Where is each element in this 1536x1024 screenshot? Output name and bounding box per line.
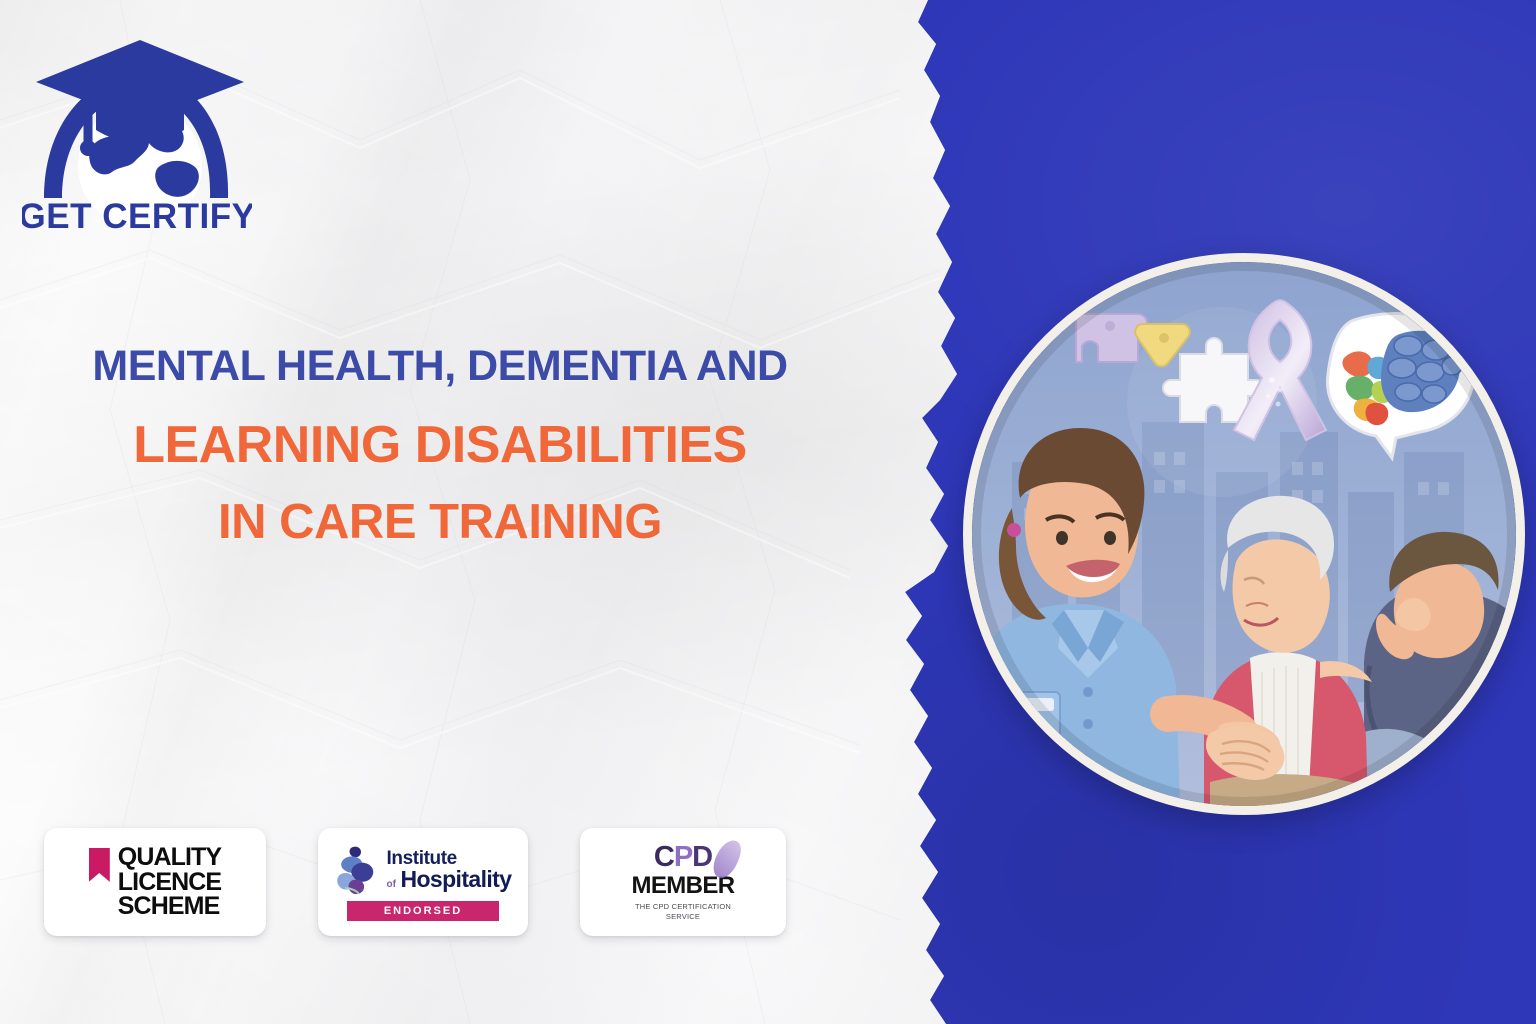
accreditation-badges: QUALITY LICENCE SCHEME: [44, 828, 786, 936]
care-scene-illustration: [972, 262, 1516, 806]
badge-institute-of-hospitality[interactable]: Institute of Hospitality ENDORSED: [318, 828, 528, 936]
headline-line-2: LEARNING DISABILITIES: [0, 419, 880, 472]
graduation-cap-globe-icon: GET CERTIFY: [22, 26, 252, 241]
cpd-letter-d: D: [692, 841, 712, 873]
care-scene-photo: [963, 253, 1525, 815]
badge-cpd-member[interactable]: CPD MEMBER THE CPD CERTIFICATION SERVICE: [580, 828, 786, 936]
logo-wordmark: GET CERTIFY: [22, 197, 252, 236]
headline-line-3: IN CARE TRAINING: [0, 498, 880, 548]
cpd-sub-line-2: SERVICE: [592, 912, 774, 921]
qls-line-3: SCHEME: [118, 894, 221, 919]
institute-of-hospitality-crest-icon: [335, 844, 381, 896]
qls-line-2: LICENCE: [118, 870, 221, 895]
course-banner: GET CERTIFY MENTAL HEALTH, DEMENTIA AND …: [0, 0, 1536, 1024]
ioh-of: of: [387, 879, 396, 890]
ioh-endorsed-band: ENDORSED: [347, 901, 499, 921]
cpd-letter-p: P: [674, 841, 692, 873]
badge-quality-licence-scheme[interactable]: QUALITY LICENCE SCHEME: [44, 828, 266, 936]
qls-line-1: QUALITY: [118, 845, 221, 870]
page-title: MENTAL HEALTH, DEMENTIA AND LEARNING DIS…: [0, 345, 880, 548]
brand-logo[interactable]: GET CERTIFY: [22, 26, 252, 241]
ioh-line-2: Hospitality: [400, 866, 511, 892]
cpd-letter-c: C: [654, 841, 674, 873]
cpd-member-label: MEMBER: [592, 873, 774, 899]
photo-inner: [972, 262, 1516, 806]
cpd-sub-line-1: THE CPD CERTIFICATION: [592, 902, 774, 911]
headline-line-1: MENTAL HEALTH, DEMENTIA AND: [0, 345, 880, 389]
bookmark-icon: [89, 848, 110, 882]
